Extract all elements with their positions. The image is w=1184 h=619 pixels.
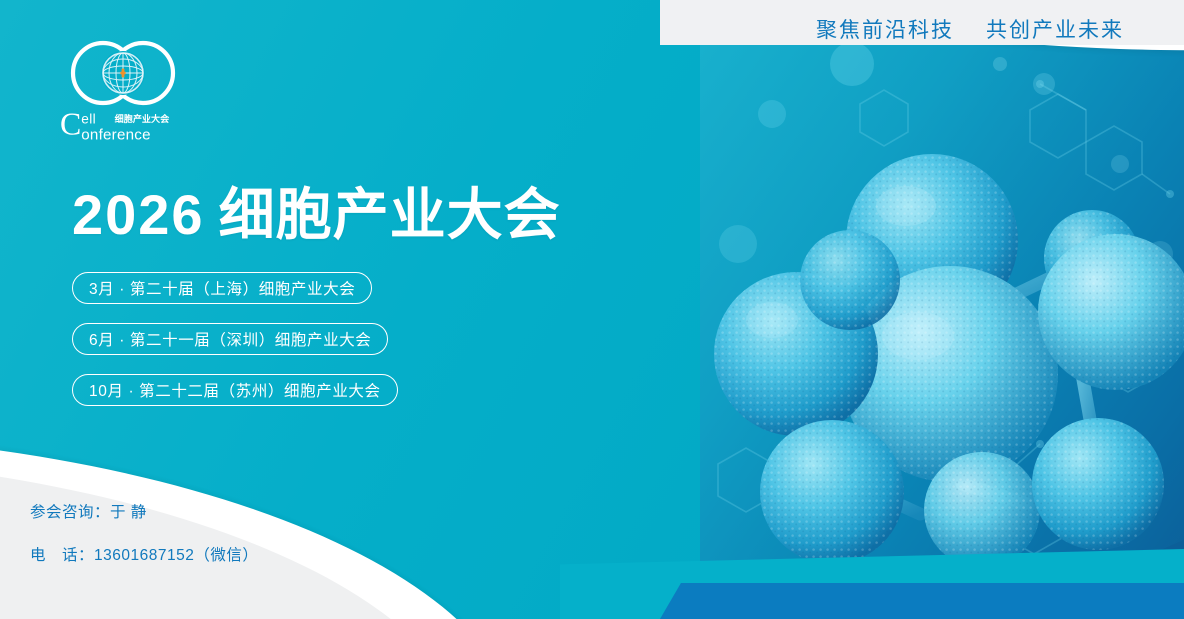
logo-word-top: ell bbox=[81, 112, 96, 127]
cell-division-globe-emblem-icon bbox=[70, 38, 176, 108]
conference-logo: C ell 细胞产业大会 onference bbox=[58, 38, 188, 148]
bottom-blue-band bbox=[660, 583, 1184, 619]
conference-banner: 聚焦前沿科技 共创产业未来 C ell 细胞产业大 bbox=[0, 0, 1184, 619]
event-pill-october[interactable]: 10月 · 第二十二届（苏州）细胞产业大会 bbox=[72, 374, 398, 406]
tagline: 聚焦前沿科技 共创产业未来 bbox=[816, 14, 1124, 44]
event-pill-march[interactable]: 3月 · 第二十届（上海）细胞产业大会 bbox=[72, 272, 372, 304]
logo-wordmark: C ell 细胞产业大会 onference bbox=[58, 104, 188, 148]
molecule-illustration-icon bbox=[700, 44, 1184, 584]
event-pill-june[interactable]: 6月 · 第二十一届（深圳）细胞产业大会 bbox=[72, 323, 388, 355]
logo-word-bottom: onference bbox=[81, 127, 150, 144]
logo-script-c: C bbox=[60, 106, 81, 141]
tagline-right: 共创产业未来 bbox=[986, 14, 1124, 44]
contact-consultant: 参会咨询：于 静 bbox=[30, 505, 258, 521]
title-year: 2026 bbox=[72, 183, 205, 246]
page-title: 2026细胞产业大会 bbox=[72, 170, 561, 251]
title-name: 细胞产业大会 bbox=[219, 183, 561, 246]
contact-block: 参会咨询：于 静 电 话：13601687152（微信） bbox=[30, 505, 258, 563]
molecular-cell-cluster-artwork bbox=[700, 44, 1184, 584]
logo-chinese-name: 细胞产业大会 bbox=[115, 113, 170, 124]
contact-phone: 电 话：13601687152（微信） bbox=[30, 548, 258, 564]
tagline-left: 聚焦前沿科技 bbox=[816, 14, 954, 44]
event-list: 3月 · 第二十届（上海）细胞产业大会 6月 · 第二十一届（深圳）细胞产业大会… bbox=[72, 272, 398, 406]
